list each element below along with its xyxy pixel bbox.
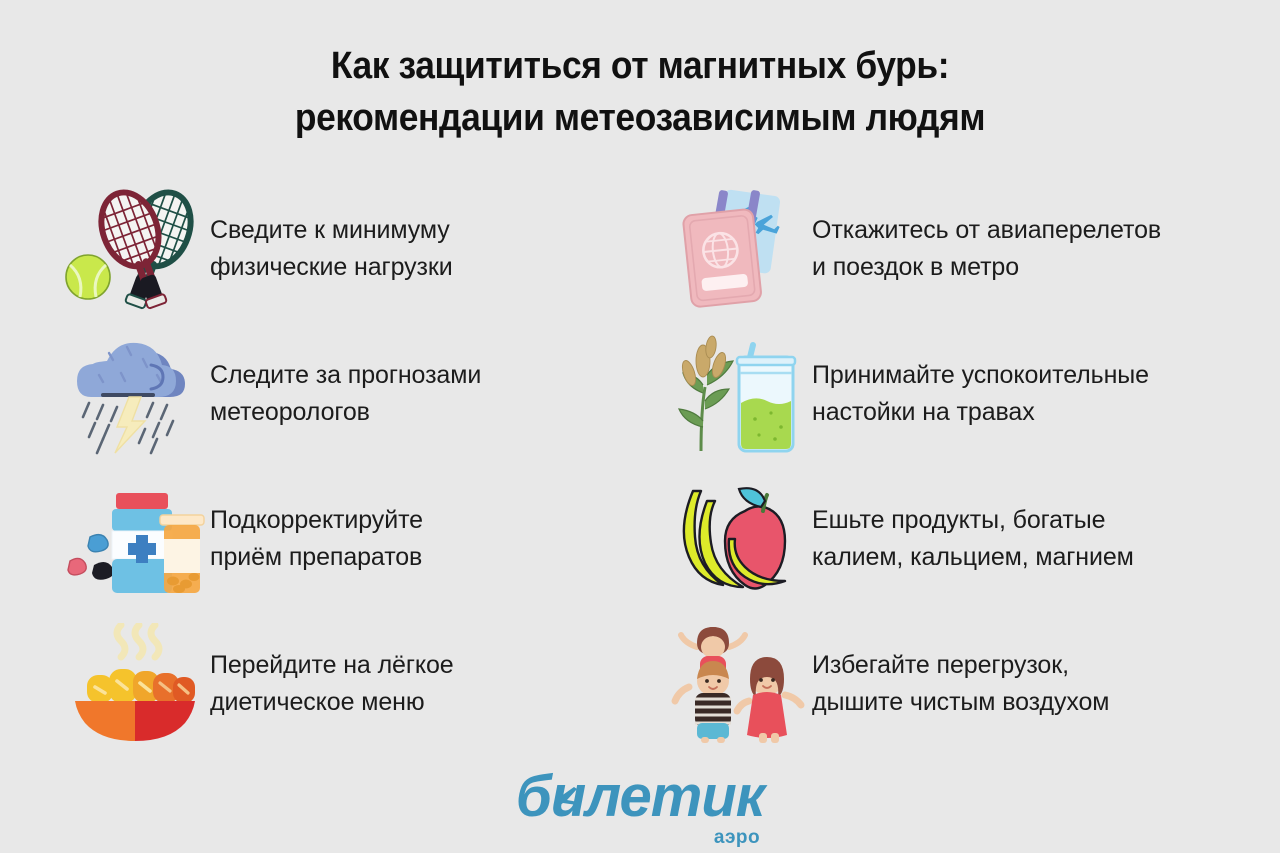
hot-food-bowl-icon: [60, 619, 210, 749]
airplane-icon: [554, 758, 580, 816]
herbal-drink-jar-icon: [662, 329, 812, 459]
page-title-line-1: Как защититься от магнитных бурь:: [45, 40, 1235, 92]
banana-apple-icon: [662, 474, 812, 604]
tip-item: Сведите к минимуму физические нагрузки: [0, 176, 620, 321]
rain-cloud-lightning-icon: [60, 329, 210, 459]
tip-item: Избегайте перегрузок, дышите чистым возд…: [640, 611, 1260, 756]
medicine-bottles-icon: [60, 474, 210, 604]
brand-logo-word: билетик: [516, 768, 764, 826]
tip-item: Подкорректируйте приём препаратов: [0, 466, 620, 611]
page-title-line-2: рекомендации метеозависимым людям: [45, 92, 1235, 144]
tip-label: Подкорректируйте приём препаратов: [210, 502, 423, 576]
page-title: Как защититься от магнитных бурь: рекоме…: [45, 40, 1235, 144]
tip-label: Избегайте перегрузок, дышите чистым возд…: [812, 647, 1109, 721]
children-family-icon: [662, 619, 812, 749]
tip-item: Ешьте продукты, богатые калием, кальцием…: [640, 466, 1260, 611]
tip-label: Следите за прогнозами метеорологов: [210, 357, 481, 431]
tip-item: Следите за прогнозами метеорологов: [0, 321, 620, 466]
tip-item: Перейдите на лёгкое диетическое меню: [0, 611, 620, 756]
tip-label: Перейдите на лёгкое диетическое меню: [210, 647, 454, 721]
tip-item: Откажитесь от авиаперелетов и поездок в …: [640, 176, 1260, 321]
tips-grid: Сведите к минимуму физические нагрузки: [0, 176, 1280, 756]
passport-tickets-icon: [662, 184, 812, 314]
tip-label: Откажитесь от авиаперелетов и поездок в …: [812, 212, 1161, 286]
brand-logo-subtitle: аэро: [714, 827, 760, 849]
tip-label: Принимайте успокоительные настойки на тр…: [812, 357, 1149, 431]
brand-logo[interactable]: билетик аэро: [0, 768, 1280, 849]
tennis-rackets-icon: [60, 184, 210, 314]
tip-label: Сведите к минимуму физические нагрузки: [210, 212, 453, 286]
tip-label: Ешьте продукты, богатые калием, кальцием…: [812, 502, 1134, 576]
tip-item: Принимайте успокоительные настойки на тр…: [640, 321, 1260, 466]
